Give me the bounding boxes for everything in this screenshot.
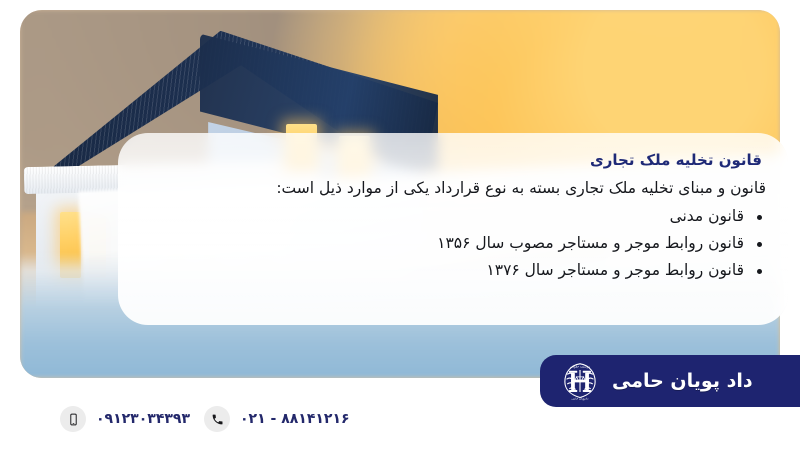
contact-bar: ۰۲۱ - ۸۸۱۴۱۲۱۶ ۰۹۱۲۳۰۳۴۳۹۳	[28, 404, 350, 434]
scales-laurel-h-emblem-icon: موسسه حقوقی دادپویان حامی	[558, 359, 602, 403]
law-list: قانون مدنی قانون روابط موجر و مستاجر مصو…	[140, 203, 766, 284]
list-item: قانون روابط موجر و مستاجر سال ۱۳۷۶	[140, 257, 766, 284]
list-item: قانون مدنی	[140, 203, 766, 230]
poster-canvas: قانون تخلیه ملک تجاری قانون و مبنای تخلی…	[0, 0, 800, 450]
svg-text:دادپویان حامی: دادپویان حامی	[572, 397, 590, 401]
list-item: قانون روابط موجر و مستاجر مصوب سال ۱۳۵۶	[140, 230, 766, 257]
phone-icon	[204, 406, 230, 432]
landline-number: ۰۲۱ - ۸۸۱۴۱۲۱۶	[240, 411, 350, 427]
card-subtitle: قانون و مبنای تخلیه ملک تجاری بسته به نو…	[140, 177, 766, 199]
brand-badge[interactable]: داد پویان حامی	[540, 355, 800, 407]
page-title: قانون تخلیه ملک تجاری	[140, 151, 762, 171]
contact-mobile[interactable]: ۰۹۱۲۳۰۳۴۳۹۳	[60, 406, 190, 432]
brand-name: داد پویان حامی	[612, 370, 753, 392]
content-card: قانون تخلیه ملک تجاری قانون و مبنای تخلی…	[118, 133, 788, 325]
svg-text:موسسه حقوقی: موسسه حقوقی	[570, 364, 590, 368]
mobile-phone-icon	[60, 406, 86, 432]
mobile-number: ۰۹۱۲۳۰۳۴۳۹۳	[96, 411, 190, 427]
contact-landline[interactable]: ۰۲۱ - ۸۸۱۴۱۲۱۶	[204, 406, 350, 432]
